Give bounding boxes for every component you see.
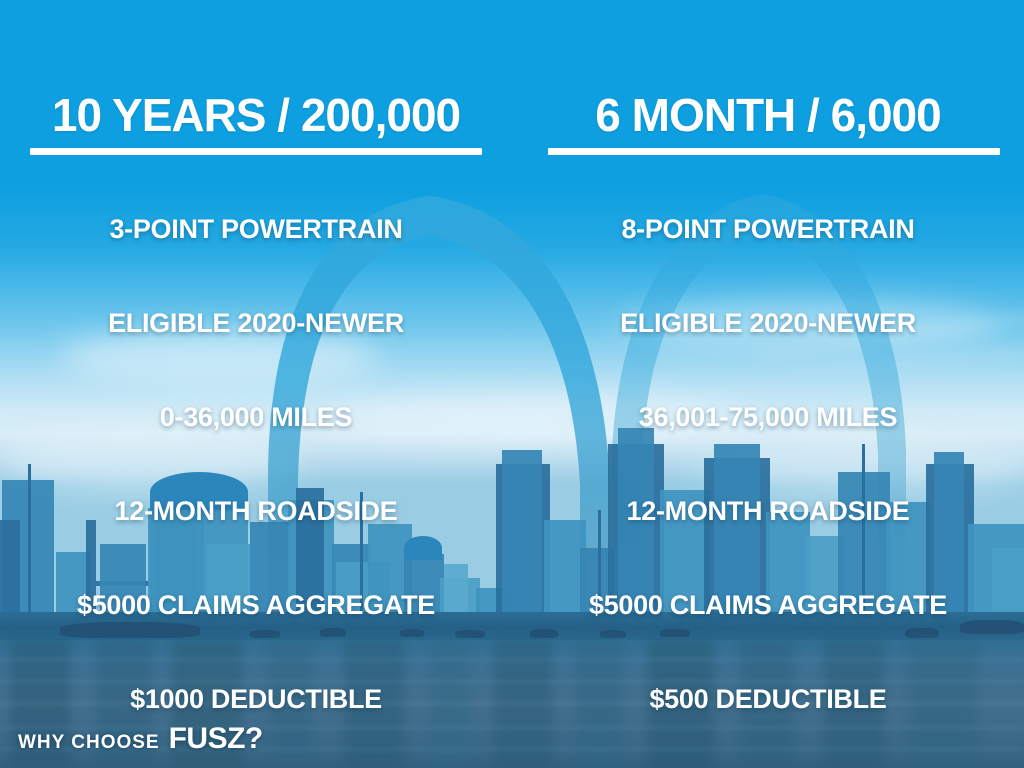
plan-column-6-month: 6 MONTH / 6,000 8-POINT POWERTRAIN ELIGI… [512, 0, 1024, 710]
feature-item: 36,001-75,000 MILES [512, 370, 1024, 464]
feature-item: $5000 CLAIMS AGGREGATE [0, 558, 512, 652]
headline-underline [548, 148, 1000, 155]
feature-item: 12-MONTH ROADSIDE [512, 464, 1024, 558]
slide-canvas: 10 YEARS / 200,000 3-POINT POWERTRAIN EL… [0, 0, 1024, 768]
plan-column-10-year: 10 YEARS / 200,000 3-POINT POWERTRAIN EL… [0, 0, 512, 710]
feature-item: $500 DEDUCTIBLE [512, 652, 1024, 746]
brand-name: FUSZ? [169, 722, 263, 756]
plan-headline: 6 MONTH / 6,000 [512, 92, 1024, 138]
feature-list: 8-POINT POWERTRAIN ELIGIBLE 2020-NEWER 3… [512, 182, 1024, 746]
brand-prefix: WHY CHOOSE [18, 732, 160, 754]
headline-underline [30, 148, 482, 155]
brand-lockup: WHY CHOOSE FUSZ? [18, 722, 263, 756]
feature-item: ELIGIBLE 2020-NEWER [512, 276, 1024, 370]
feature-item: 0-36,000 MILES [0, 370, 512, 464]
feature-item: 12-MONTH ROADSIDE [0, 464, 512, 558]
feature-list: 3-POINT POWERTRAIN ELIGIBLE 2020-NEWER 0… [0, 182, 512, 746]
feature-item: ELIGIBLE 2020-NEWER [0, 276, 512, 370]
feature-item: 3-POINT POWERTRAIN [0, 182, 512, 276]
feature-item: 8-POINT POWERTRAIN [512, 182, 1024, 276]
plan-headline: 10 YEARS / 200,000 [0, 92, 512, 138]
feature-item: $5000 CLAIMS AGGREGATE [512, 558, 1024, 652]
slide-content: 10 YEARS / 200,000 3-POINT POWERTRAIN EL… [0, 0, 1024, 768]
plan-columns: 10 YEARS / 200,000 3-POINT POWERTRAIN EL… [0, 0, 1024, 710]
